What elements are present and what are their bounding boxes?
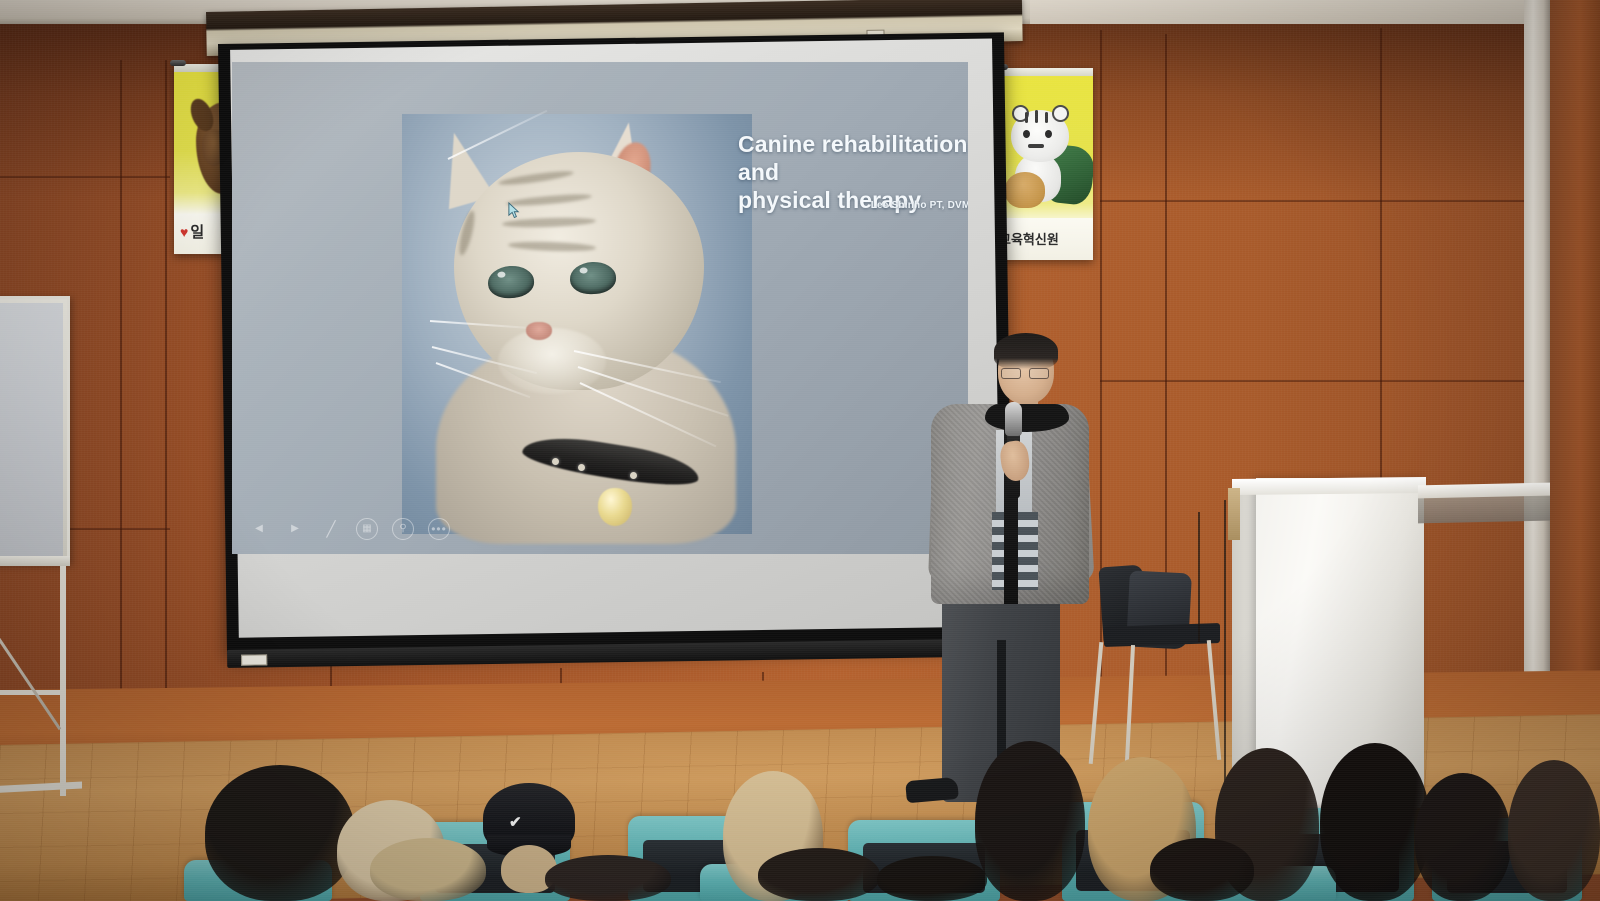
glasses-lens-right <box>1029 368 1049 379</box>
wall-seam <box>0 176 170 178</box>
banner-left-label: 일 <box>190 224 204 241</box>
whiteboard-marker-tray <box>0 556 70 566</box>
banner-right-header <box>995 68 1093 76</box>
eye-highlight <box>579 267 587 273</box>
slide-overview-icon[interactable]: ▦ <box>356 518 378 540</box>
audience-member-cap: ✔ <box>483 783 575 853</box>
whiteboard-surface <box>0 303 63 557</box>
banner-right: 교육혁신원 <box>995 68 1093 260</box>
screen-brand-tag <box>241 654 267 665</box>
pointer-cursor-icon <box>507 202 522 219</box>
more-options-icon[interactable]: ••• <box>428 518 450 540</box>
previous-slide-icon[interactable]: ◀ <box>248 518 270 540</box>
tiger-mouth <box>1028 144 1044 148</box>
slide-title-line-1: Canine rehabilitation and <box>738 130 968 186</box>
presenter-jacket-collar <box>985 404 1069 432</box>
microphone-icon <box>1005 402 1022 436</box>
lecture-hall-photo: ♥일 교육혁신원 <box>0 0 1600 901</box>
audience-member-12 <box>1508 760 1600 901</box>
banner-right-footer: 교육혁신원 <box>995 218 1093 260</box>
presentation-toolbar[interactable]: ◀ ▶ ╱ ▦ ⚲ ••• <box>248 518 450 540</box>
nike-swoosh-icon: ✔ <box>509 815 545 829</box>
side-table <box>1418 483 1550 499</box>
tiger-stripe <box>1025 112 1028 123</box>
collar-stud <box>630 472 637 479</box>
audience-member-4 <box>545 855 671 901</box>
pen-tool-icon[interactable]: ╱ <box>320 518 342 540</box>
podium-cable <box>1198 512 1214 642</box>
slide-author: Lee Shinho PT, DVM, Ph.D <box>824 200 968 211</box>
whiteboard <box>0 296 70 564</box>
wall-seam <box>120 60 122 700</box>
eye-highlight <box>497 271 505 278</box>
banner-right-label: 교육혁신원 <box>999 229 1089 248</box>
tiger-eye-left <box>1023 130 1030 138</box>
presenter-hair <box>994 333 1058 369</box>
presenter-shoe-left <box>905 777 959 803</box>
audience-member-14 <box>1150 838 1254 901</box>
podium-top-surface <box>1232 477 1426 495</box>
audience-member-6 <box>758 848 880 901</box>
next-slide-icon[interactable]: ▶ <box>284 518 306 540</box>
wall-seam <box>165 60 167 700</box>
whiteboard-stand-leg <box>60 566 66 796</box>
audience-member-7 <box>975 741 1085 901</box>
zoom-in-icon[interactable]: ⚲ <box>392 518 414 540</box>
cat-muzzle <box>498 328 606 394</box>
slide-cat-photo <box>402 114 752 534</box>
audience-member-13 <box>877 856 987 901</box>
tiger-stripe <box>1045 112 1048 123</box>
audience-member-1 <box>205 765 355 901</box>
banner-left-pole <box>170 60 186 66</box>
glasses-lens-left <box>1001 368 1021 379</box>
tiger-ear-right <box>1052 105 1069 122</box>
cat-nose <box>526 322 552 340</box>
tiger-companion-dog <box>1005 172 1045 208</box>
audience-member-3 <box>370 838 486 901</box>
cat-collar-bell <box>598 488 632 526</box>
tiger-stripe <box>1035 110 1038 123</box>
audience-member-10 <box>1320 743 1430 901</box>
tiger-eye-right <box>1045 130 1052 138</box>
collar-stud <box>578 464 585 471</box>
side-table-underside <box>1418 495 1550 524</box>
whiteboard-stand-brace <box>0 690 62 695</box>
collar-stud <box>552 458 559 465</box>
heart-icon: ♥ <box>180 224 188 240</box>
glasses-icon <box>1001 368 1051 379</box>
audience-member-11 <box>1415 773 1511 901</box>
projected-slide: Canine rehabilitation and physical thera… <box>232 62 968 554</box>
